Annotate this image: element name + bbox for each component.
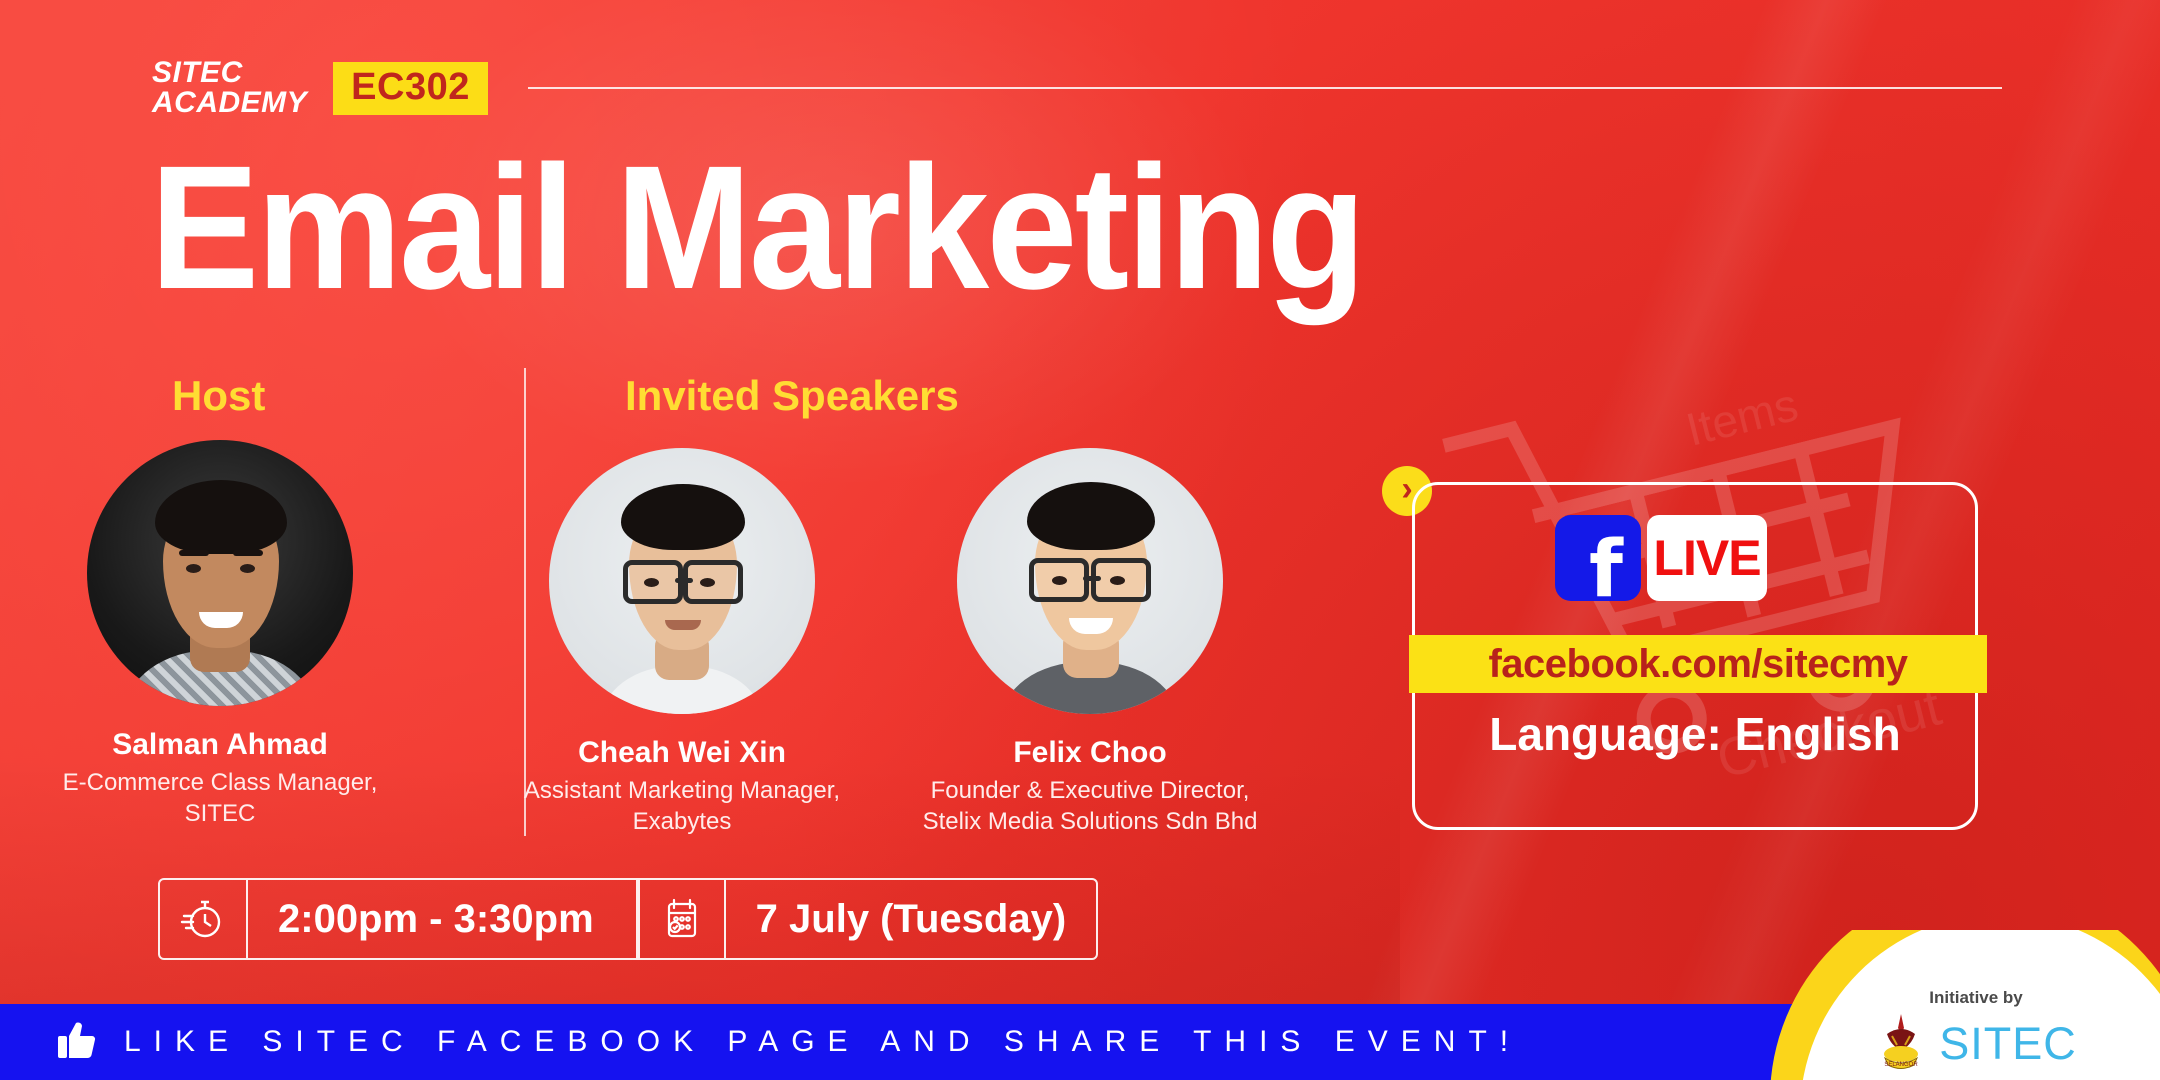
selangor-crest-icon: SELANGOR [1875,1012,1927,1074]
calendar-icon [638,880,726,958]
schedule-strip: 2:00pm - 3:30pm 7 July (Tuesday) [158,878,1098,960]
sitec-academy-logo: SITECACADEMY [152,58,307,118]
facebook-icon[interactable]: f [1555,515,1641,601]
thumbs-up-icon [56,1018,98,1067]
avatar [87,440,353,706]
poster-header: SITECACADEMY EC302 [152,58,2002,118]
live-label: LIVE [1653,529,1760,587]
brand-line-2: ACADEMY [152,86,307,119]
person-card-speaker-1: Cheah Wei Xin Assistant Marketing Manage… [492,448,872,837]
person-role: Assistant Marketing Manager, Exabytes [492,776,872,837]
page-title: Email Marketing [150,140,1363,316]
schedule-date: 7 July (Tuesday) [726,880,1096,958]
person-name: Salman Ahmad [30,728,410,762]
initiative-badge: Initiative by SELANGOR SITEC [1770,930,2160,1080]
svg-text:Items: Items [1681,378,1803,456]
person-name: Cheah Wei Xin [492,736,872,770]
schedule-time: 2:00pm - 3:30pm [248,880,638,958]
facebook-live-card: f LIVE facebook.com/sitecmy Language: En… [1412,482,1978,830]
speakers-section-label: Invited Speakers [625,372,959,420]
facebook-letter: f [1589,531,1623,601]
facebook-live-logos: f LIVE [1555,515,1767,601]
language-label: Language: English [1415,707,1975,761]
sitec-logo: SITEC [1939,1021,2077,1066]
person-card-host: Salman Ahmad E-Commerce Class Manager, S… [30,440,410,829]
cta-text: LIKE SITEC FACEBOOK PAGE AND SHARE THIS … [124,1025,1521,1059]
person-role: Founder & Executive Director, Stelix Med… [900,776,1280,837]
avatar [957,448,1223,714]
person-role: E-Commerce Class Manager, SITEC [30,768,410,829]
host-section-label: Host [172,372,265,420]
header-divider-rule [528,87,2002,89]
avatar [549,448,815,714]
person-card-speaker-2: Felix Choo Founder & Executive Director,… [900,448,1280,837]
initiative-label: Initiative by [1826,988,2126,1008]
live-badge: LIVE [1647,515,1767,601]
facebook-url[interactable]: facebook.com/sitecmy [1409,635,1987,693]
svg-text:SELANGOR: SELANGOR [1885,1062,1919,1068]
stopwatch-icon [160,880,248,958]
course-code-badge: EC302 [333,62,488,115]
event-poster: Checkout Items SITECACADEMY EC302 Email … [0,0,2160,1080]
brand-line-1: SITEC [152,56,243,89]
person-name: Felix Choo [900,736,1280,770]
